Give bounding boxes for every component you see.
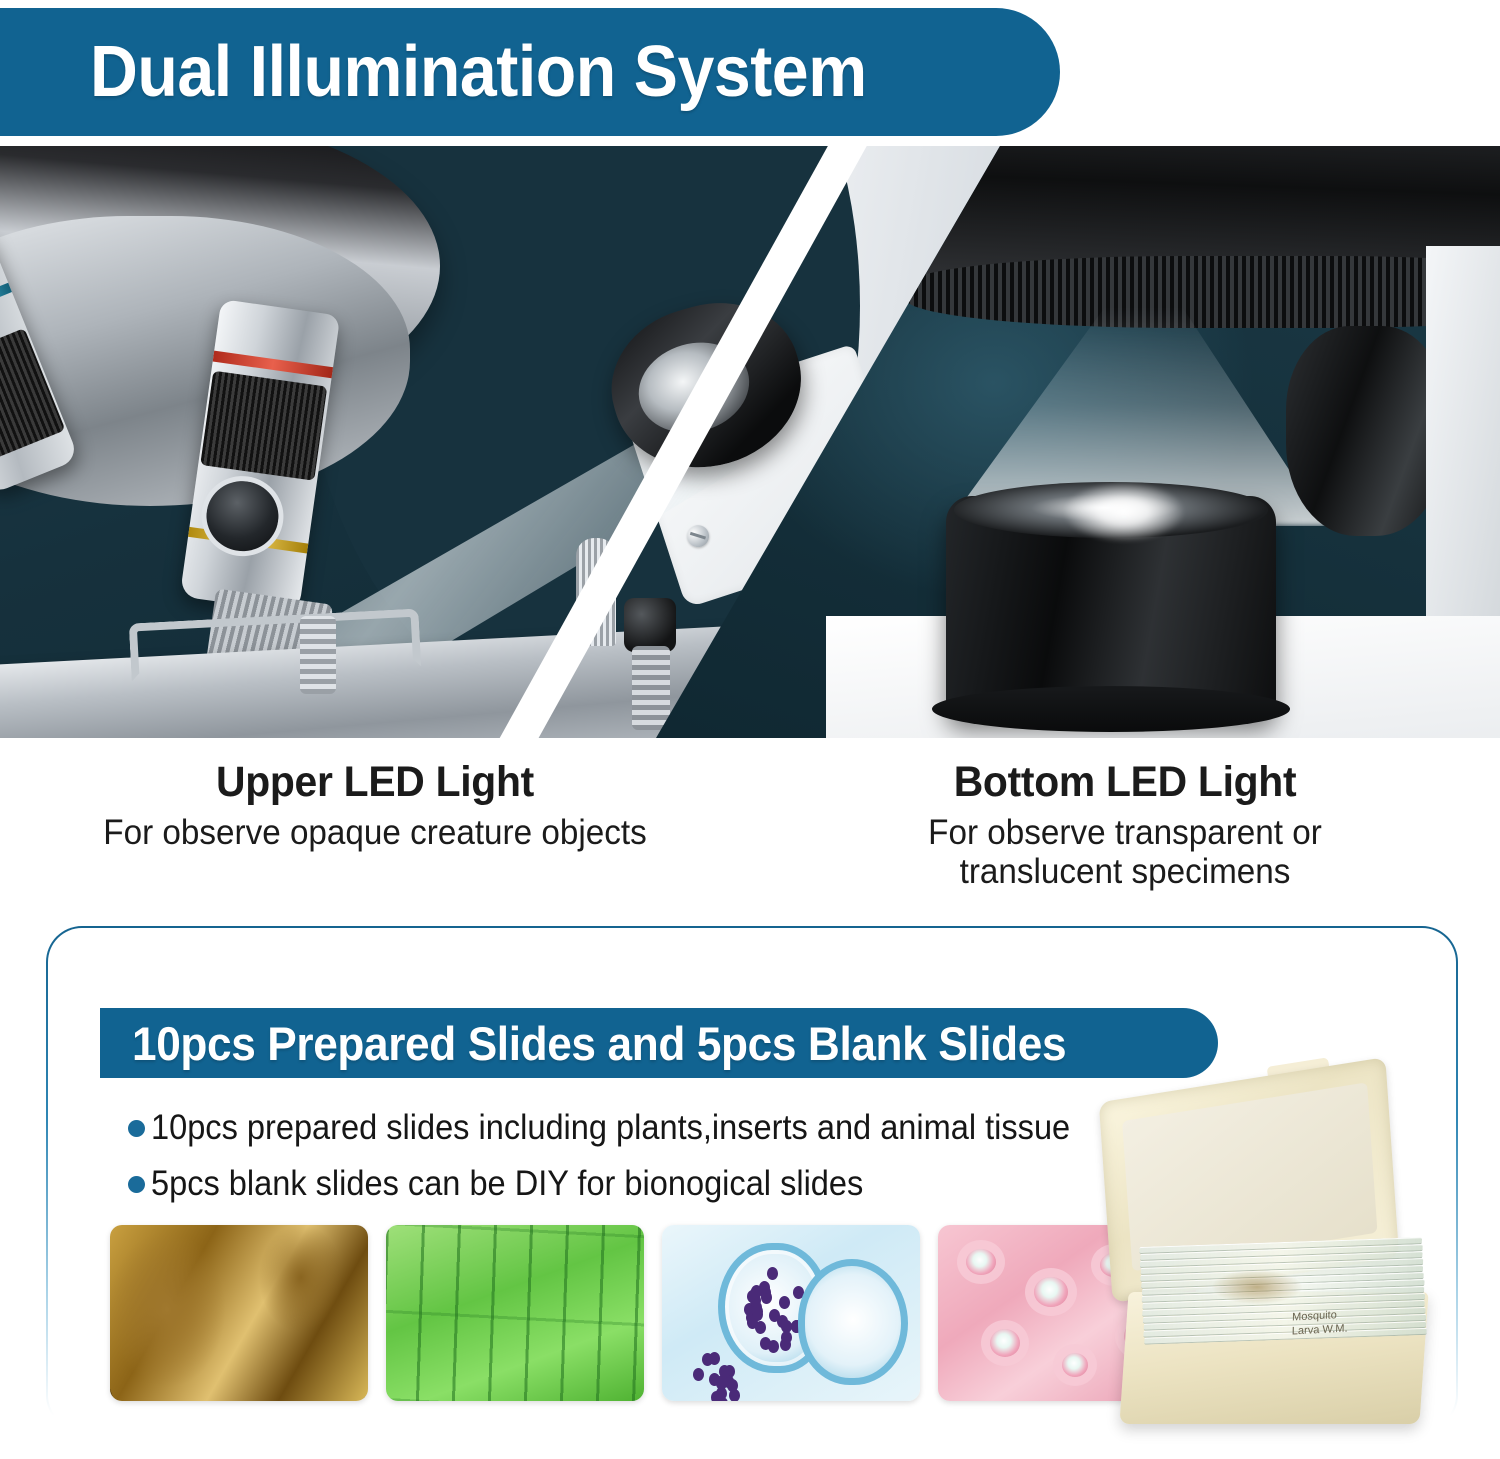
stage-spring: [632, 646, 670, 730]
bullet-dot-icon: [128, 1176, 145, 1193]
pollen-grain: [850, 1341, 861, 1354]
prepared-slide-box: Mosquito Larva W.M.: [1096, 1074, 1466, 1444]
pollen-grains: [662, 1225, 920, 1401]
pollen-grain: [755, 1321, 766, 1334]
slide-specimen-smudge: [1212, 1270, 1302, 1304]
pollen-grain: [716, 1387, 727, 1400]
pollen-grain: [843, 1352, 854, 1365]
slides-banner-title: 10pcs Prepared Slides and 5pcs Blank Sli…: [132, 1016, 1066, 1071]
bottom-led-subtitle-line1: For observe transparent or: [769, 813, 1482, 852]
bullet-text: 10pcs prepared slides including plants,i…: [151, 1108, 1070, 1148]
upper-led-title: Upper LED Light: [19, 758, 732, 807]
pollen-grain: [845, 1336, 856, 1349]
list-item: 5pcs blank slides can be DIY for bionogi…: [128, 1164, 1128, 1204]
pollen-grain: [846, 1285, 857, 1298]
pollen-grain: [843, 1356, 854, 1369]
bullet-text: 5pcs blank slides can be DIY for bionogi…: [151, 1164, 863, 1204]
slide-label-line2: Larva W.M.: [1292, 1322, 1348, 1339]
pollen-grain: [838, 1321, 849, 1334]
upper-led-caption: Upper LED Light For observe opaque creat…: [0, 758, 750, 902]
slides-bullet-list: 10pcs prepared slides including plants,i…: [128, 1108, 1128, 1220]
header-banner: Dual Illumination System: [0, 8, 1060, 136]
pollen-grain: [830, 1303, 841, 1316]
pollen-grain: [791, 1320, 802, 1333]
black-knob: [624, 598, 676, 652]
slides-banner: 10pcs Prepared Slides and 5pcs Blank Sli…: [100, 1008, 1218, 1078]
pollen-grain: [842, 1315, 853, 1328]
stage-spring: [300, 616, 336, 694]
pollen-grain: [861, 1311, 872, 1324]
pollen-grain: [828, 1328, 839, 1341]
pollen-grain: [752, 1305, 763, 1318]
pollen-grain: [702, 1353, 713, 1366]
pollen-grain: [719, 1365, 730, 1378]
condenser-knob: [1286, 326, 1446, 536]
illumination-photo-band: [0, 146, 1500, 738]
list-item: 10pcs prepared slides including plants,i…: [128, 1108, 1128, 1148]
pollen-grain: [751, 1285, 762, 1298]
caption-row: Upper LED Light For observe opaque creat…: [0, 752, 1500, 902]
pollen-grain: [828, 1325, 839, 1338]
pollen-grain: [839, 1338, 850, 1351]
upper-led-subtitle: For observe opaque creature objects: [19, 813, 732, 852]
pollen-grain: [822, 1331, 833, 1344]
pollen-grain: [779, 1296, 790, 1309]
page-title: Dual Illumination System: [90, 31, 867, 113]
pollen-grain: [768, 1340, 779, 1353]
bullet-dot-icon: [128, 1120, 145, 1137]
pollen-grain: [793, 1286, 804, 1299]
pollen-grain: [870, 1338, 881, 1351]
plant-cell-slide-thumbnail: [386, 1225, 644, 1401]
pollen-grain: [830, 1303, 841, 1316]
pollen-grain: [863, 1325, 874, 1338]
pollen-grain: [821, 1327, 832, 1340]
pollen-grain: [863, 1318, 874, 1331]
condenser-ring: [906, 256, 1500, 328]
bottom-led-caption: Bottom LED Light For observe transparent…: [750, 758, 1500, 902]
pollen-grain: [837, 1288, 848, 1301]
pollen-grain: [709, 1373, 720, 1386]
screw-icon: [684, 522, 712, 550]
specimen-thumbnail-row: [110, 1225, 1196, 1401]
slide-label: Mosquito Larva W.M.: [1292, 1309, 1348, 1339]
pollen-grain: [767, 1267, 778, 1280]
thumb-screw: [576, 538, 616, 646]
bottom-led-title: Bottom LED Light: [769, 758, 1482, 807]
pollen-grain: [863, 1286, 874, 1299]
pollen-grain: [855, 1331, 866, 1344]
pollen-grain: [837, 1285, 848, 1298]
pollen-grain: [846, 1302, 857, 1315]
pollen-grain: [869, 1301, 880, 1314]
insect-tissue-slide-thumbnail: [110, 1225, 368, 1401]
led-flare-icon: [1064, 482, 1184, 542]
pollen-anther-slide-thumbnail: [662, 1225, 920, 1401]
bottom-led-subtitle-line2: translucent specimens: [769, 852, 1482, 891]
pollen-grain: [693, 1368, 704, 1381]
